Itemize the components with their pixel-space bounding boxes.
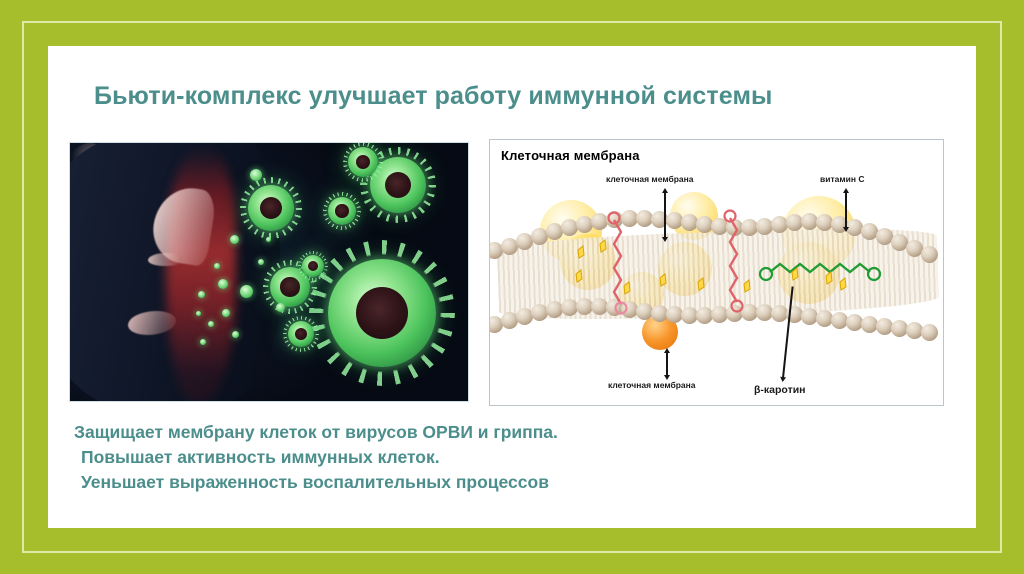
beta-carotene-ring: [760, 268, 772, 280]
virus-speck: [198, 291, 205, 298]
content-card: Бьюти-комплекс улучшает работу иммунной …: [48, 46, 976, 528]
virus-speck: [196, 311, 201, 316]
benefits-text: Защищает мембрану клеток от вирусов ОРВИ…: [74, 420, 934, 495]
virus-particle: [328, 259, 436, 367]
nostril-highlight: [148, 253, 182, 266]
virus-speck: [208, 321, 214, 327]
virus-speck: [218, 279, 228, 289]
virus-speck: [240, 285, 253, 298]
vitamin-c-chain-end: [616, 303, 627, 314]
virus-speck: [222, 309, 230, 317]
virus-particle: [348, 147, 378, 177]
virus-particle: [248, 185, 294, 231]
virus-speck: [214, 263, 220, 269]
rim-light: [166, 147, 236, 401]
diagram-title: Клеточная мембрана: [501, 148, 640, 163]
beta-carotene-ring: [868, 268, 880, 280]
virus-particle: [302, 255, 324, 277]
vitamin-c-chain-end: [732, 301, 743, 312]
arrow-bottom-membrane: [666, 352, 668, 376]
virus-particle: [288, 321, 314, 347]
label-vitamin-c: витамин С: [820, 174, 865, 184]
virus-speck: [276, 303, 285, 312]
label-beta-carotene: β-каротин: [754, 384, 806, 396]
arrow-top-membrane: [664, 192, 666, 238]
arrow-vitamin-c: [845, 192, 847, 228]
slide-title: Бьюти-комплекс улучшает работу иммунной …: [94, 82, 934, 111]
benefit-line-2: Повышает активность иммунных клеток.: [74, 445, 934, 470]
label-bottom-membrane: клеточная мембрана: [608, 380, 696, 390]
beta-carotene-chain: [770, 264, 870, 272]
benefit-line-1: Защищает мембрану клеток от вирусов ОРВИ…: [74, 420, 934, 445]
virus-inhalation-photo: [70, 143, 468, 401]
virus-speck: [232, 331, 239, 338]
virus-speck: [258, 259, 264, 265]
virus-particle: [328, 197, 356, 225]
cell-membrane-diagram: Клеточная мембрана: [489, 139, 944, 406]
label-top-membrane: клеточная мембрана: [606, 174, 694, 184]
molecule-chains: [489, 198, 944, 358]
slide-root: Бьюти-комплекс улучшает работу иммунной …: [0, 0, 1024, 574]
lipid-bilayer: [489, 198, 944, 358]
benefit-line-3: Уеньшает выраженность воспалительных про…: [74, 470, 934, 495]
vitamin-c-chain: [614, 220, 621, 304]
virus-speck: [266, 237, 271, 242]
vitamin-c-chain: [730, 218, 737, 302]
virus-speck: [200, 339, 206, 345]
virus-speck: [250, 169, 262, 181]
virus-speck: [230, 235, 239, 244]
